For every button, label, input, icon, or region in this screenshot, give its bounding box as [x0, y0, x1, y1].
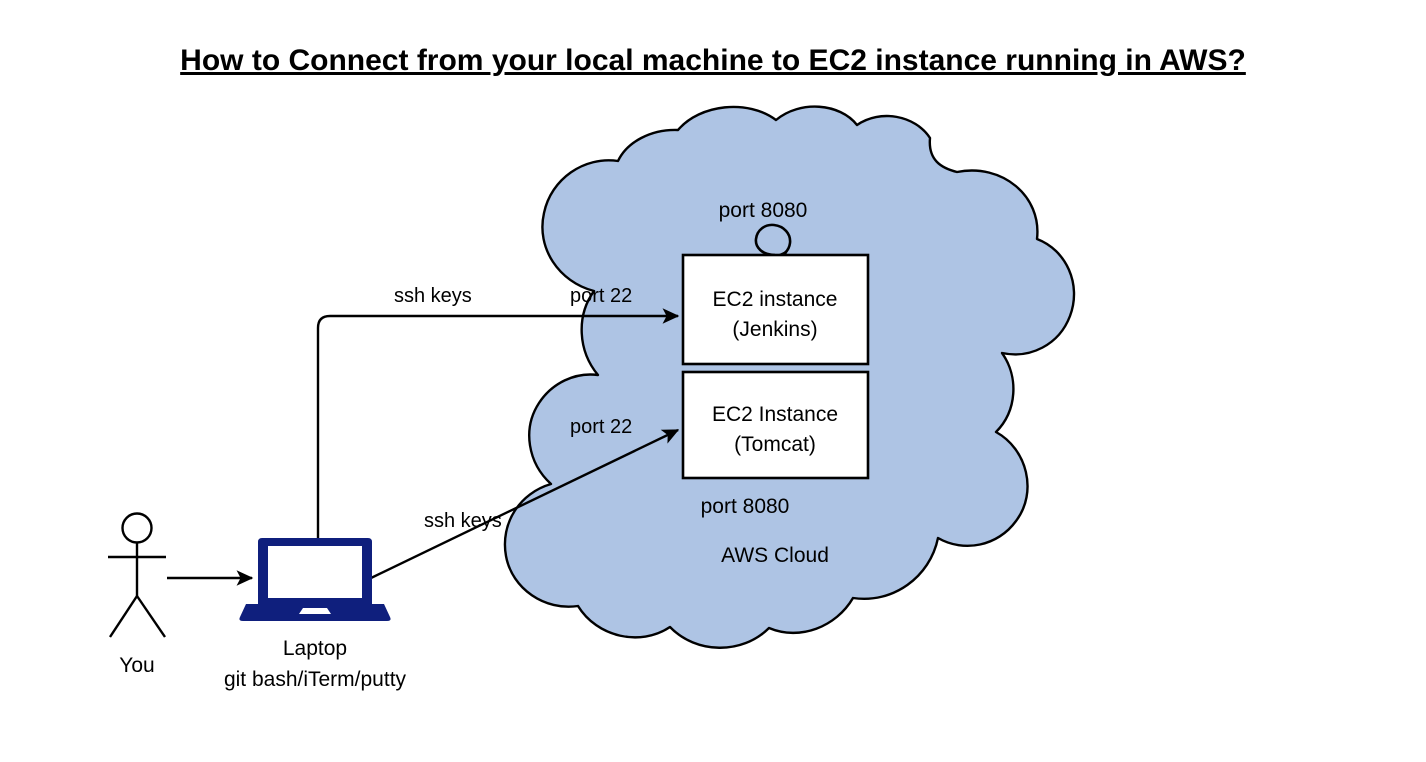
- ec2-instance-jenkins[interactable]: EC2 instance (Jenkins): [683, 255, 868, 364]
- ssh-keys-label-tomcat: ssh keys: [424, 510, 502, 532]
- laptop-label: Laptop: [283, 637, 347, 660]
- laptop-icon: [239, 538, 390, 621]
- aws-connection-diagram: How to Connect from your local machine t…: [0, 0, 1426, 762]
- stick-figure-head: [123, 514, 152, 543]
- laptop-sublabel: git bash/iTerm/putty: [224, 668, 407, 691]
- port-22-label-jenkins: port 22: [570, 285, 632, 307]
- laptop-screen: [268, 546, 362, 598]
- diagram-canvas: How to Connect from your local machine t…: [0, 0, 1426, 762]
- port-22-label-tomcat: port 22: [570, 416, 632, 438]
- jenkins-label-line1: EC2 instance: [713, 288, 838, 311]
- tomcat-label-line1: EC2 Instance: [712, 403, 838, 426]
- jenkins-label-line2: (Jenkins): [732, 318, 817, 341]
- tomcat-label-line2: (Tomcat): [734, 433, 816, 456]
- user-stick-figure: [108, 514, 166, 638]
- ssh-keys-label-jenkins: ssh keys: [394, 285, 472, 307]
- stick-figure-left-leg: [110, 596, 137, 637]
- aws-cloud-label: AWS Cloud: [721, 544, 829, 567]
- stick-figure-right-leg: [137, 596, 165, 637]
- cloud-bottom-port-label: port 8080: [701, 495, 790, 518]
- laptop-trackpad-notch: [299, 608, 331, 614]
- ec2-instance-tomcat[interactable]: EC2 Instance (Tomcat): [683, 372, 868, 478]
- user-label: You: [119, 654, 154, 677]
- cloud-top-port-label: port 8080: [719, 199, 808, 222]
- page-title: How to Connect from your local machine t…: [180, 44, 1246, 77]
